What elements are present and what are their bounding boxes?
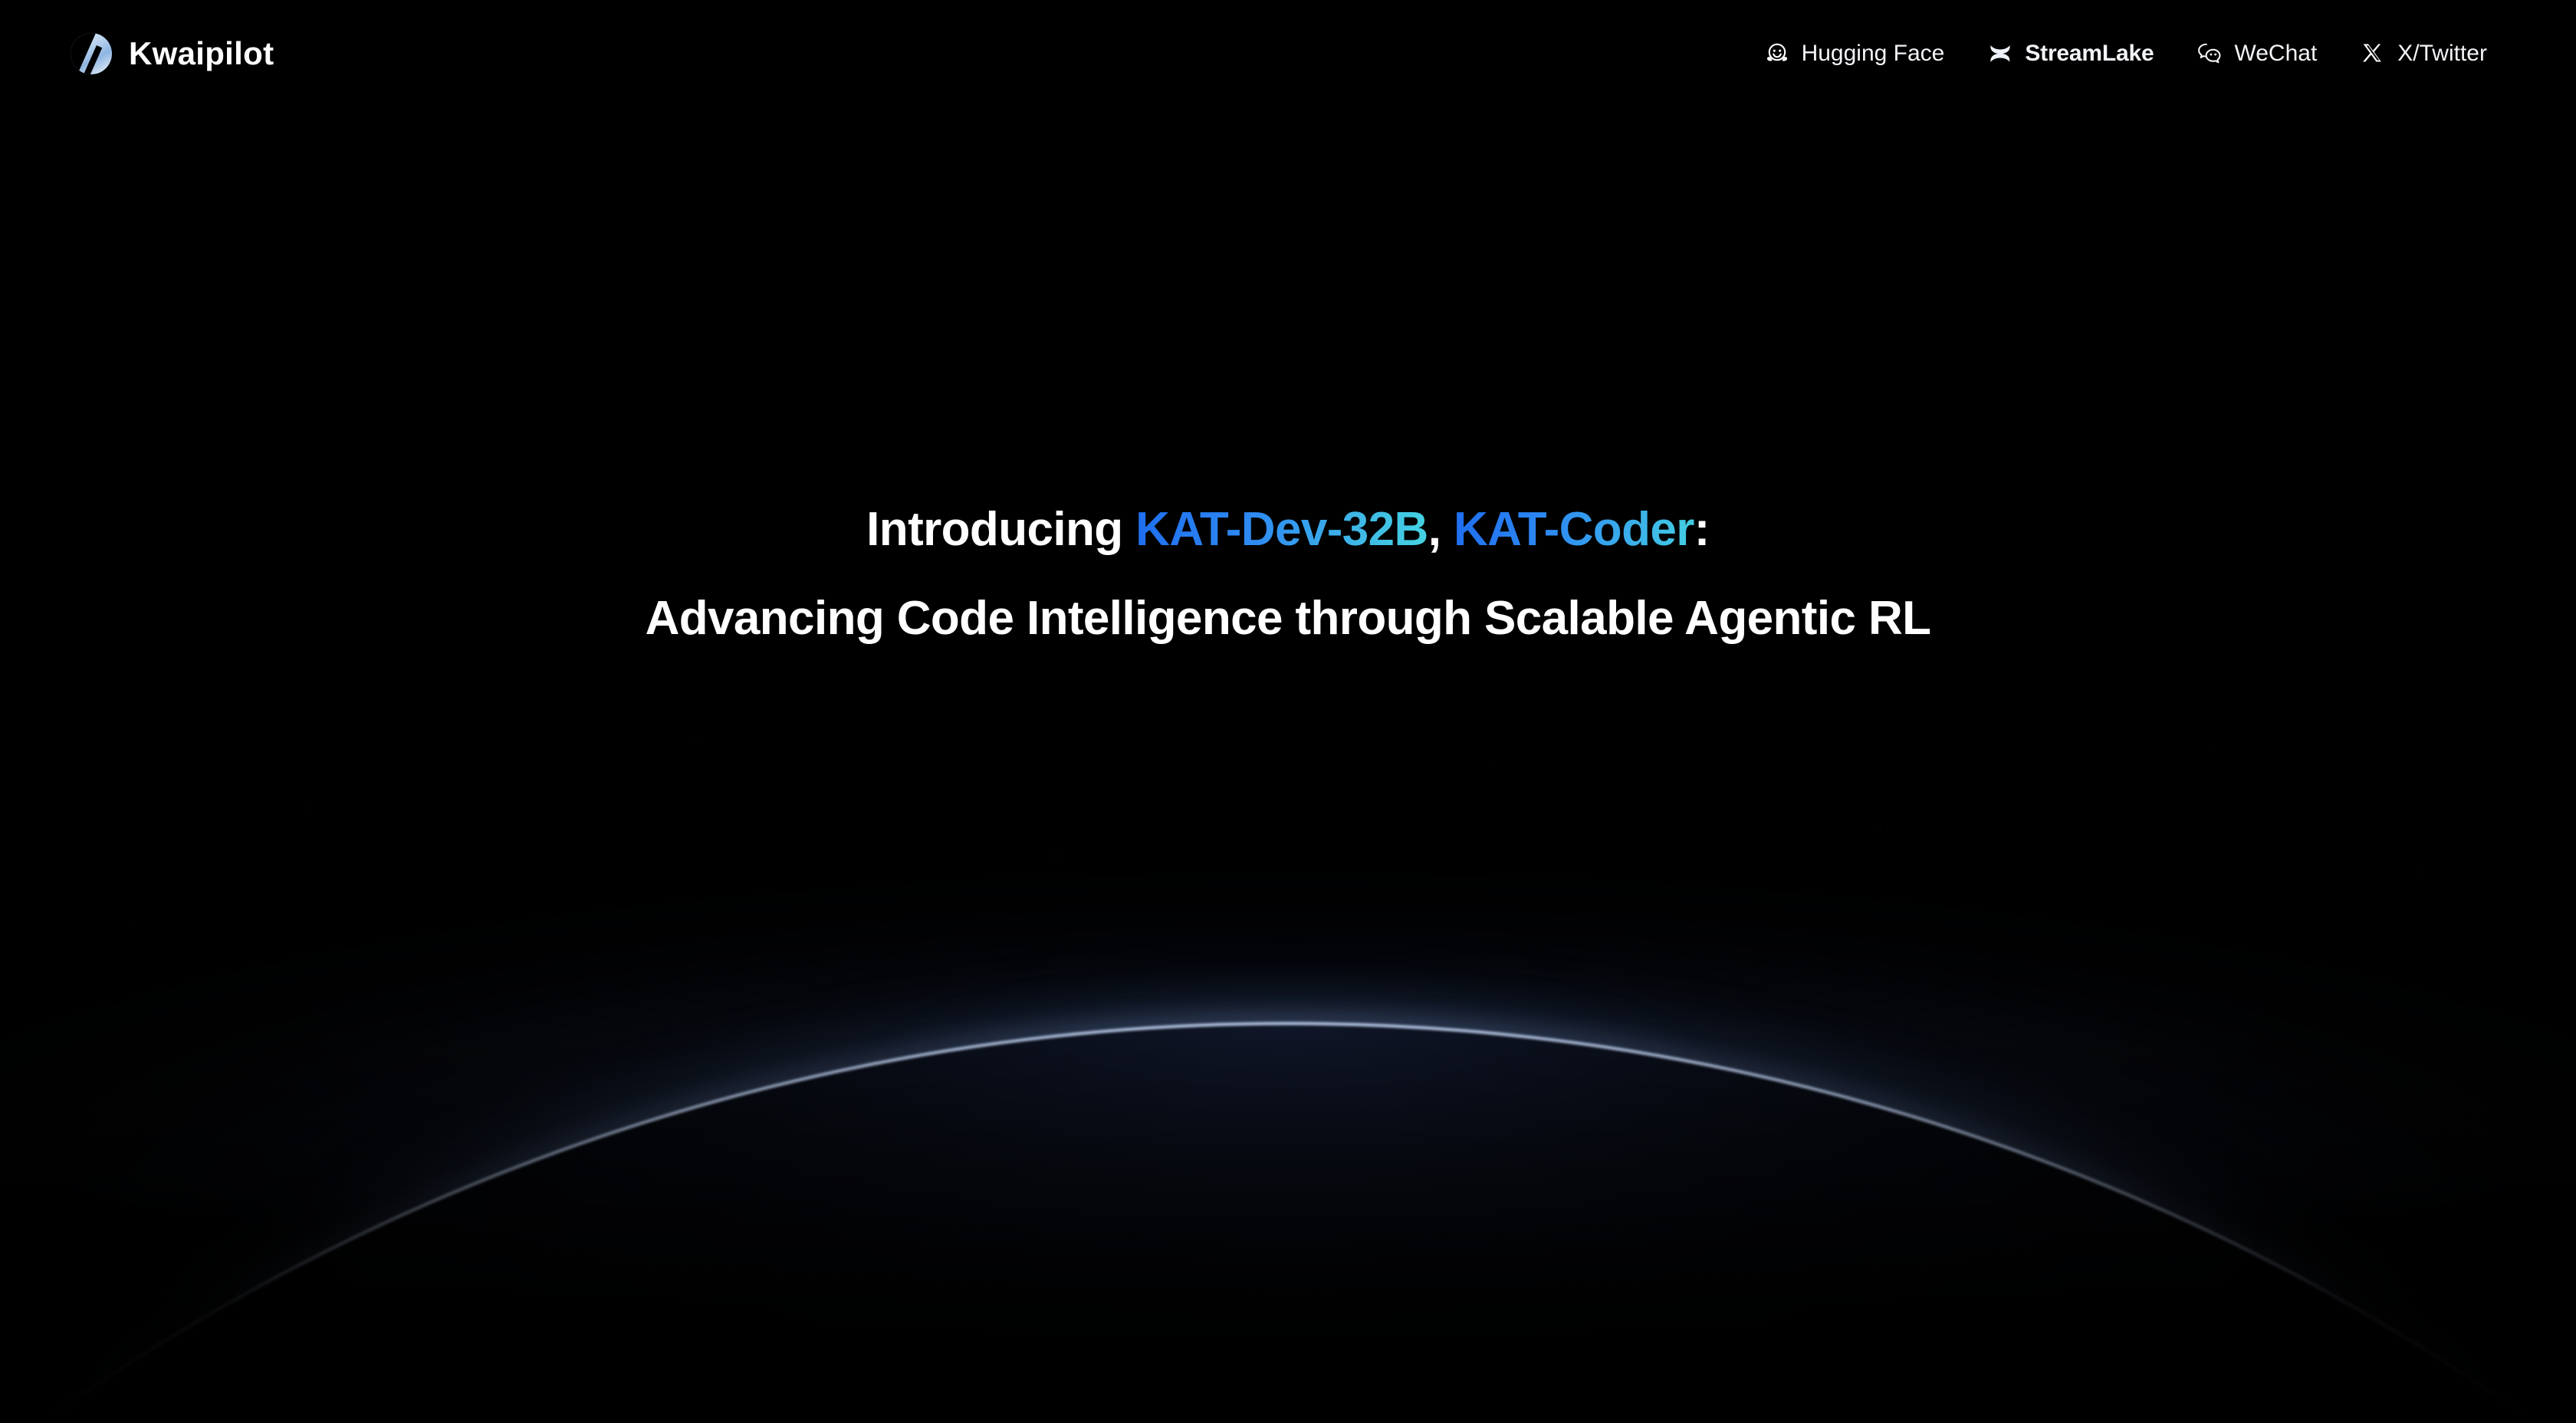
nav-item-x-twitter[interactable]: X/Twitter <box>2338 33 2509 74</box>
nav-label: Hugging Face <box>1802 41 1945 67</box>
nav-item-wechat[interactable]: WeChat <box>2175 33 2338 74</box>
hero-headline-line-2: Advancing Code Intelligence through Scal… <box>92 595 2484 642</box>
headline-suffix: : <box>1694 503 1710 556</box>
kwaipilot-logo-icon <box>71 33 112 74</box>
hero-section: Introducing KAT-Dev-32B, KAT-Coder: Adva… <box>0 506 2576 642</box>
hugging-face-icon <box>1764 41 1790 67</box>
nav-label: X/Twitter <box>2397 41 2487 67</box>
nav-label: WeChat <box>2234 41 2317 67</box>
headline-prefix: Introducing <box>866 503 1135 556</box>
bottom-fade-overlay <box>0 1024 2576 1423</box>
site-header: Kwaipilot Hugging Face Str <box>0 0 2576 107</box>
landing-page: Kwaipilot Hugging Face Str <box>0 0 2576 1423</box>
streamlake-icon <box>1987 41 2013 67</box>
nav-label: StreamLake <box>2025 41 2154 67</box>
main-navigation: Hugging Face StreamLake WeChat <box>1743 33 2509 74</box>
space-horizon-background <box>0 0 2576 1423</box>
brand-name: Kwaipilot <box>129 35 274 72</box>
nav-item-hugging-face[interactable]: Hugging Face <box>1743 33 1967 74</box>
brand-logo-link[interactable]: Kwaipilot <box>71 33 274 74</box>
model-name-kat-coder: KAT-Coder <box>1454 503 1694 556</box>
headline-separator: , <box>1428 503 1454 556</box>
wechat-icon <box>2196 41 2223 67</box>
hero-headline-line-1: Introducing KAT-Dev-32B, KAT-Coder: <box>92 506 2484 554</box>
nav-item-streamlake[interactable]: StreamLake <box>1966 33 2175 74</box>
x-twitter-icon <box>2360 41 2386 67</box>
model-name-kat-dev: KAT-Dev-32B <box>1135 503 1428 556</box>
